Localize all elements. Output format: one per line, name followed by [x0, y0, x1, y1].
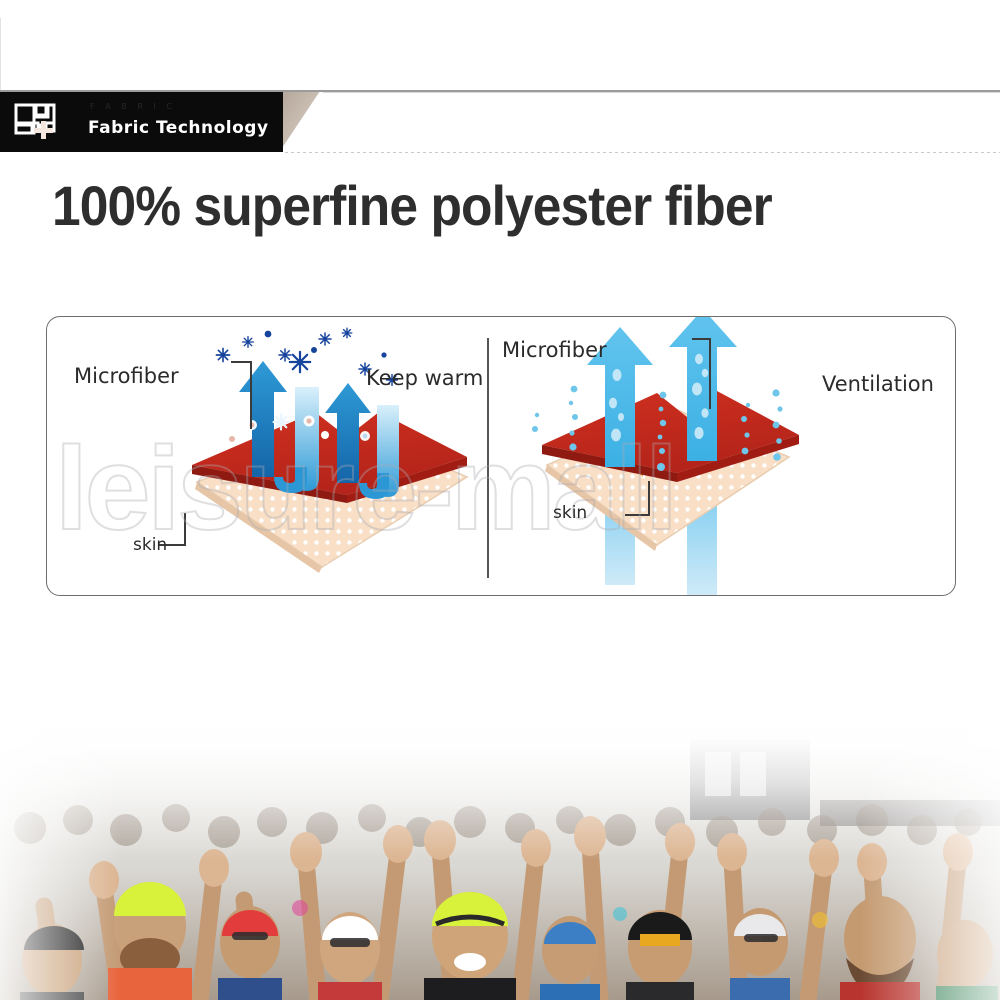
left-keep-warm-illustration: [159, 328, 467, 573]
diagram-svg: [47, 317, 955, 595]
banner-subtitle: Fabric Technology: [88, 118, 269, 138]
label-skin-left: skin: [133, 535, 167, 555]
page-title: 100% superfine polyester fiber: [52, 178, 772, 234]
dashed-rule: [285, 152, 1000, 153]
fabric-diagram-panel: [46, 316, 956, 596]
page-root: F A B R I C Fabric Technology 100% super…: [0, 0, 1000, 1000]
label-ventilation: Ventilation: [822, 372, 934, 396]
header-banner-wedge: [283, 92, 323, 152]
square-plus-logo-icon: [12, 99, 58, 145]
microfiber-leader-left: [231, 362, 251, 429]
label-skin-right: skin: [553, 503, 587, 523]
crowd-of-runners-photo: [0, 710, 1000, 1000]
panel-divider: [487, 338, 489, 578]
label-microfiber-left: Microfiber: [74, 364, 179, 388]
label-microfiber-right: Microfiber: [502, 338, 607, 362]
label-keep-warm: Keep warm: [366, 366, 483, 390]
left-edge-line: [0, 18, 1, 90]
banner-tiny-text: F A B R I C: [90, 102, 176, 111]
